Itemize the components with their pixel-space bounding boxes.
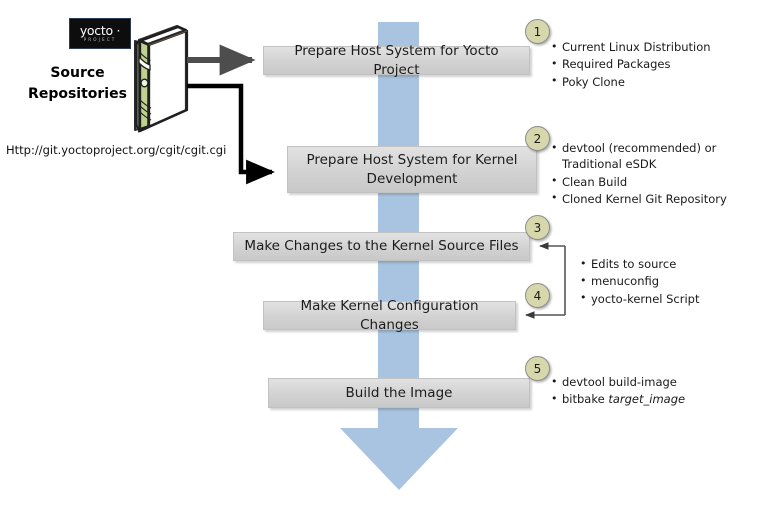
step-number-badge-4: 4 xyxy=(525,283,550,308)
step-number-badge-3: 3 xyxy=(525,215,550,240)
diagram-canvas: yocto · PROJECT Source Repositories Http… xyxy=(0,0,769,517)
flow-arrow-head xyxy=(340,428,458,490)
steps-3-4-bullet-list: Edits to source menuconfig yocto-kernel … xyxy=(580,256,766,308)
source-label-line2: Repositories xyxy=(20,84,135,105)
bitbake-target-argument: target_image xyxy=(608,392,685,406)
step-1-bullet-list: Current Linux Distribution Required Pack… xyxy=(551,39,766,91)
yocto-logo-wordmark: yocto · xyxy=(80,25,120,38)
step-box-5-label: Build the Image xyxy=(346,384,453,402)
step-box-3-label: Make Changes to the Kernel Source Files xyxy=(244,237,518,255)
list-item: yocto-kernel Script xyxy=(580,291,766,307)
list-item: devtool (recommended) or Traditional eSD… xyxy=(551,140,766,173)
source-label-line1: Source xyxy=(20,63,135,84)
flow-arrow-shaft xyxy=(378,22,419,429)
list-item: Poky Clone xyxy=(551,74,766,90)
step-number-badge-2: 2 xyxy=(525,126,550,151)
step-box-4[interactable]: Make Kernel Configuration Changes xyxy=(263,301,516,330)
list-item: Edits to source xyxy=(580,256,766,272)
source-repositories-url: Http://git.yoctoproject.org/cgit/cgit.cg… xyxy=(6,143,231,157)
step-box-3[interactable]: Make Changes to the Kernel Source Files xyxy=(233,232,530,261)
step-number-badge-5: 5 xyxy=(525,356,550,381)
list-item: bitbake target_image xyxy=(551,391,766,407)
list-item: Required Packages xyxy=(551,56,766,72)
step-box-2-label: Prepare Host System for Kernel Developme… xyxy=(296,151,528,187)
step-box-1-label: Prepare Host System for Yocto Project xyxy=(272,42,521,78)
step-5-bullet-list: devtool build-image bitbake target_image xyxy=(551,374,766,409)
source-repositories-label: Source Repositories xyxy=(20,63,135,105)
list-item: Clean Build xyxy=(551,174,766,190)
connector-server-to-step2 xyxy=(187,86,272,172)
step-number-badge-1: 1 xyxy=(525,19,550,44)
list-item: Cloned Kernel Git Repository xyxy=(551,191,766,207)
step-box-4-label: Make Kernel Configuration Changes xyxy=(272,297,507,333)
step-2-bullet-list: devtool (recommended) or Traditional eSD… xyxy=(551,140,766,208)
list-item: devtool build-image xyxy=(551,374,766,390)
step-box-5[interactable]: Build the Image xyxy=(268,378,530,408)
step-box-1[interactable]: Prepare Host System for Yocto Project xyxy=(263,46,530,75)
server-tower-icon xyxy=(134,26,187,132)
yocto-logo-subtext: PROJECT xyxy=(84,38,117,42)
yocto-project-logo: yocto · PROJECT xyxy=(69,18,131,49)
list-item: Current Linux Distribution xyxy=(551,39,766,55)
list-item: menuconfig xyxy=(580,273,766,289)
bitbake-command: bitbake xyxy=(562,392,608,406)
step-box-2[interactable]: Prepare Host System for Kernel Developme… xyxy=(287,146,537,193)
